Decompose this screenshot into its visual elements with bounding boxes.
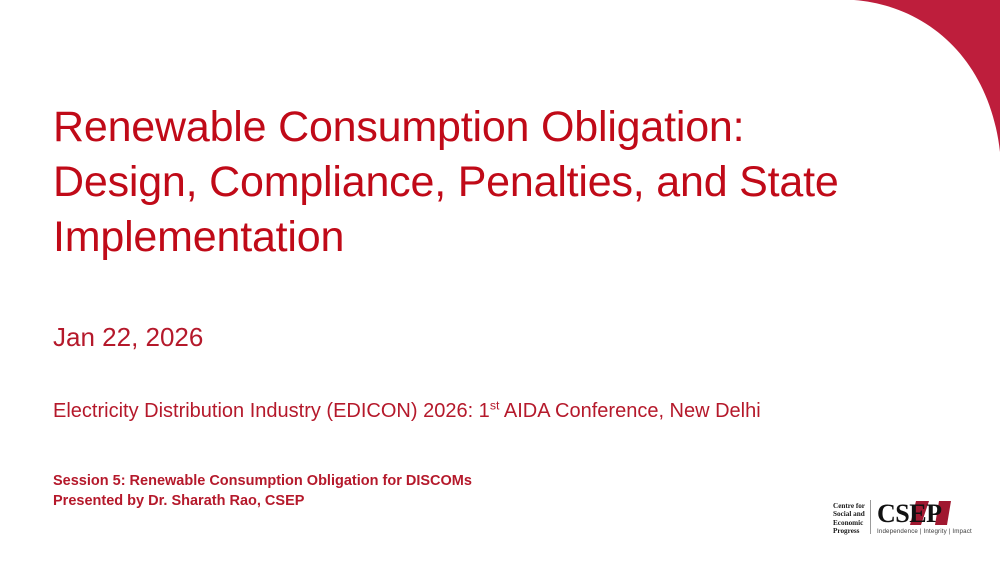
csep-logo: Centre for Social and Economic Progress … [833,500,981,544]
page-title: Renewable Consumption Obligation: Design… [53,100,913,265]
title-line-1: Renewable Consumption Obligation: [53,100,913,155]
logo-right-group: CSEP Independence | Integrity | Impact [877,500,972,536]
presentation-date: Jan 22, 2026 [53,321,203,353]
title-line-2: Design, Compliance, Penalties, and State [53,155,913,210]
presenter-name: Presented by Dr. Sharath Rao, CSEP [53,491,472,511]
session-block: Session 5: Renewable Consumption Obligat… [53,471,472,511]
logo-divider [870,500,871,534]
logo-word-line-2: Social and [833,510,865,518]
svg-text:CSEP: CSEP [877,500,942,526]
logo-word-line-1: Centre for [833,502,865,510]
csep-acronym-mark: CSEP [877,500,969,526]
presentation-slide: Renewable Consumption Obligation: Design… [0,0,1000,562]
session-title: Session 5: Renewable Consumption Obligat… [53,471,472,491]
logo-word-line-3: Economic [833,519,865,527]
conference-line: Electricity Distribution Industry (EDICO… [53,398,761,424]
logo-organisation-name: Centre for Social and Economic Progress [833,500,870,536]
title-line-3: Implementation [53,210,913,265]
conference-prefix: Electricity Distribution Industry (EDICO… [53,400,490,422]
conference-suffix: AIDA Conference, New Delhi [499,400,760,422]
logo-tagline: Independence | Integrity | Impact [877,527,972,536]
logo-word-line-4: Progress [833,527,865,535]
ordinal-suffix: st [490,398,500,412]
